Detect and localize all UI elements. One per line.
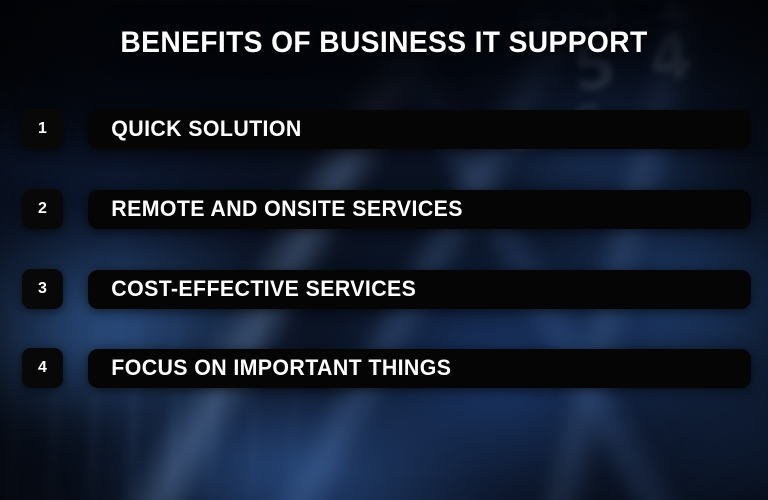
benefit-label-1: QUICK SOLUTION xyxy=(88,116,302,142)
benefit-bar-2: REMOTE AND ONSITE SERVICES xyxy=(88,190,751,229)
benefit-number-badge-1: 1 xyxy=(22,109,63,149)
benefit-bar-3: COST-EFFECTIVE SERVICES xyxy=(88,270,751,309)
poster-content: BENEFITS OF BUSINESS IT SUPPORT 1 QUICK … xyxy=(0,0,768,500)
benefit-row-1: 1 QUICK SOLUTION xyxy=(22,109,751,149)
page-title: BENEFITS OF BUSINESS IT SUPPORT xyxy=(23,26,745,60)
benefit-number-badge-4: 4 xyxy=(22,348,63,388)
benefit-label-2: REMOTE AND ONSITE SERVICES xyxy=(88,196,463,222)
benefit-number-badge-2: 2 xyxy=(22,189,63,229)
benefit-bar-4: FOCUS ON IMPORTANT THINGS xyxy=(88,349,751,388)
infographic-poster: 4 3 1 5 4 2 6 BENEFITS OF BUSINESS IT SU… xyxy=(0,0,768,500)
benefit-label-3: COST-EFFECTIVE SERVICES xyxy=(88,276,416,302)
benefit-row-4: 4 FOCUS ON IMPORTANT THINGS xyxy=(22,348,751,388)
benefit-label-4: FOCUS ON IMPORTANT THINGS xyxy=(88,355,451,381)
benefit-row-3: 3 COST-EFFECTIVE SERVICES xyxy=(22,269,751,309)
benefit-row-2: 2 REMOTE AND ONSITE SERVICES xyxy=(22,189,751,229)
benefit-number-badge-3: 3 xyxy=(22,269,63,309)
benefit-bar-1: QUICK SOLUTION xyxy=(88,110,751,149)
